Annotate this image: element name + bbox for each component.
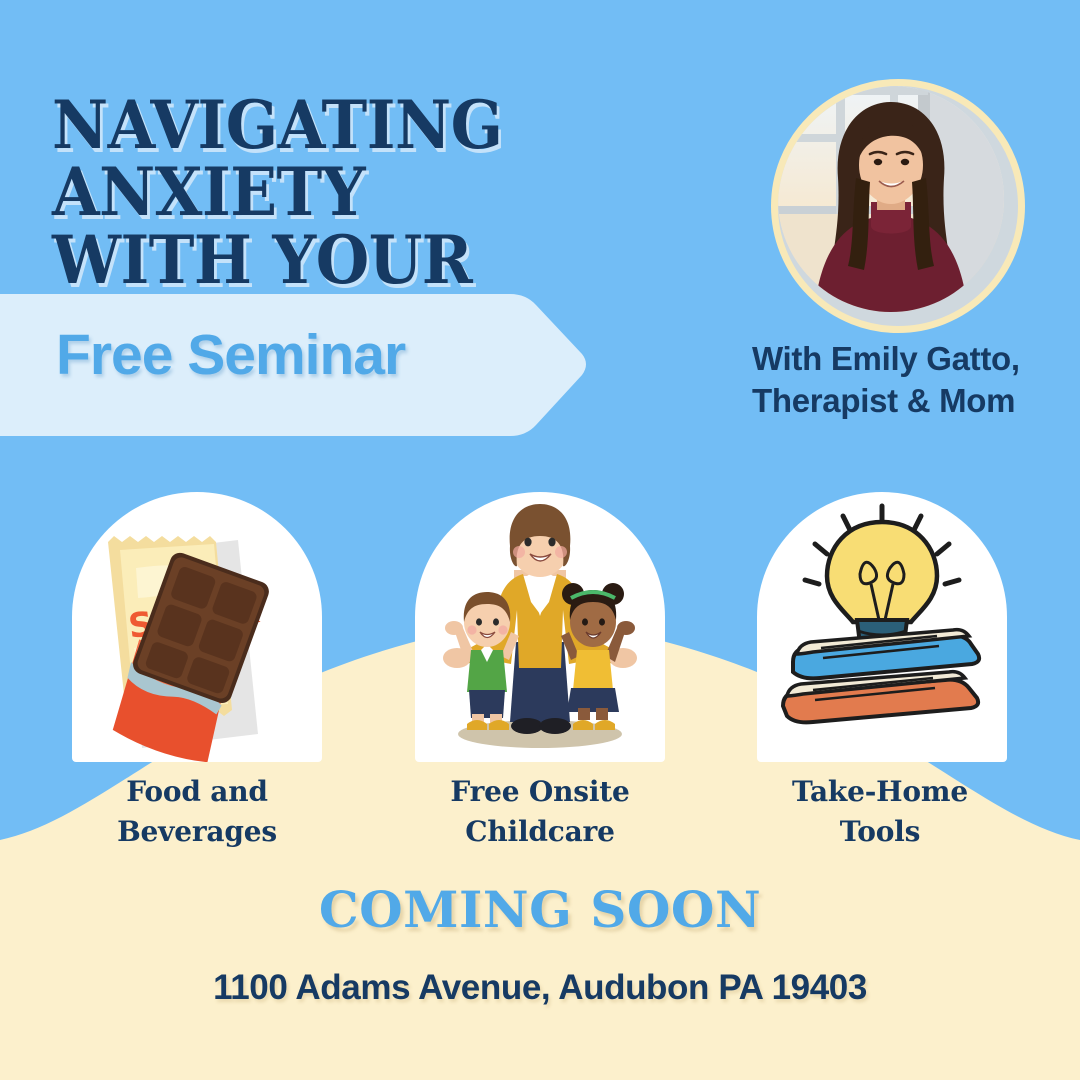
avatar xyxy=(771,79,1025,333)
feature-label-food: Food and Beverages xyxy=(47,772,347,852)
feature-card-tools xyxy=(757,492,1007,762)
ribbon-label: Free Seminar xyxy=(56,322,405,388)
feature-label-tools-line-2: Tools xyxy=(730,812,1030,852)
childcare-family-icon xyxy=(415,492,665,762)
feature-label-childcare-line-1: Free Onsite xyxy=(390,772,690,812)
address-text: 1100 Adams Avenue, Audubon PA 19403 xyxy=(0,968,1080,1008)
speaker-caption: With Emily Gatto, Therapist & Mom xyxy=(752,338,1072,422)
feature-label-childcare-line-2: Childcare xyxy=(390,812,690,852)
feature-cards: SNACK xyxy=(0,492,1080,782)
feature-label-tools: Take-Home Tools xyxy=(730,772,1030,852)
feature-label-tools-line-1: Take-Home xyxy=(730,772,1030,812)
speaker-line-1: With Emily Gatto, xyxy=(752,338,1072,380)
seminar-flyer: NAVIGATING ANXIETY WITH YOUR CHILD? Free… xyxy=(0,0,1080,1080)
speaker-photo xyxy=(778,86,1004,312)
feature-label-childcare: Free Onsite Childcare xyxy=(390,772,690,852)
lightbulb-books-icon xyxy=(757,492,1007,762)
headline-line-1: NAVIGATING ANXIETY xyxy=(52,86,503,231)
free-seminar-ribbon: Free Seminar xyxy=(0,292,590,438)
feature-label-food-line-1: Food and xyxy=(47,772,347,812)
feature-card-childcare xyxy=(415,492,665,762)
snack-food-icon: SNACK xyxy=(72,492,322,762)
coming-soon-text: COMING SOON xyxy=(0,880,1080,939)
feature-card-food: SNACK xyxy=(72,492,322,762)
feature-label-food-line-2: Beverages xyxy=(47,812,347,852)
speaker-line-2: Therapist & Mom xyxy=(752,380,1072,422)
